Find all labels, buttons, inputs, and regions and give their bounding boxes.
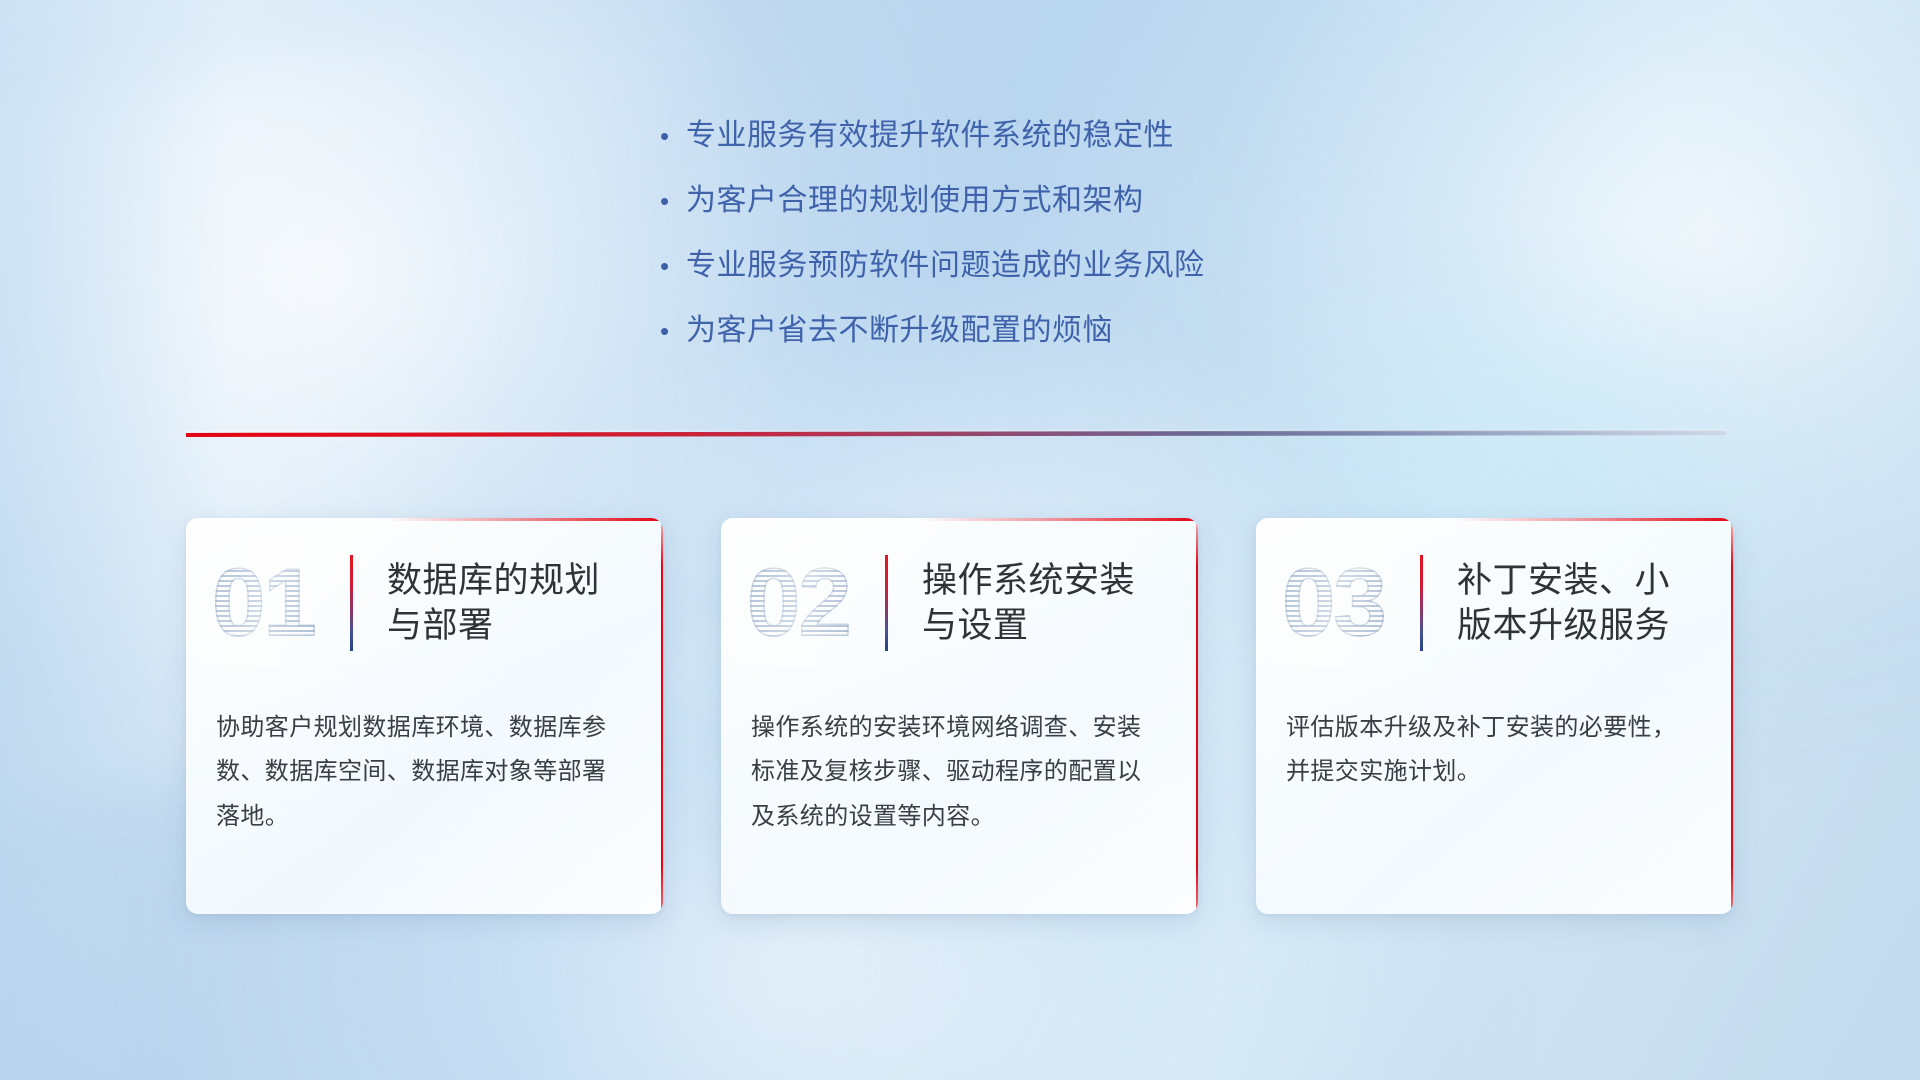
service-card-01[interactable]: 01 数据库的规划与部署 协助客户规划数据库环境、数据库参数、数据库空间、数据库… — [186, 518, 663, 914]
card-header: 02 操作系统安装与设置 — [721, 518, 1198, 688]
card-description: 操作系统的安装环境网络调查、安装标准及复核步骤、驱动程序的配置以及系统的设置等内… — [721, 688, 1198, 839]
bullet-dot-icon: • — [660, 318, 686, 344]
bullet-dot-icon: • — [660, 253, 686, 279]
section-divider — [186, 424, 1726, 446]
card-description: 评估版本升级及补丁安装的必要性，并提交实施计划。 — [1256, 688, 1733, 795]
card-title: 补丁安装、小版本升级服务 — [1457, 558, 1703, 649]
card-number-watermark: 03 — [1282, 544, 1414, 662]
bullet-dot-icon: • — [660, 123, 686, 149]
bullet-item-text: 专业服务预防软件问题造成的业务风险 — [686, 240, 1205, 284]
card-title-separator — [350, 555, 353, 651]
card-header: 01 数据库的规划与部署 — [186, 518, 663, 688]
bullet-item: • 为客户合理的规划使用方式和架构 — [660, 175, 1440, 240]
card-title-separator — [885, 555, 888, 651]
card-title: 操作系统安装与设置 — [922, 558, 1168, 649]
service-card-03[interactable]: 03 补丁安装、小版本升级服务 评估版本升级及补丁安装的必要性，并提交实施计划。 — [1256, 518, 1733, 914]
bullet-dot-icon: • — [660, 188, 686, 214]
bullet-item: • 为客户省去不断升级配置的烦恼 — [660, 305, 1440, 370]
slide-root: • 专业服务有效提升软件系统的稳定性 • 为客户合理的规划使用方式和架构 • 专… — [0, 0, 1920, 1080]
card-title-separator — [1420, 555, 1423, 651]
bullet-item-text: 专业服务有效提升软件系统的稳定性 — [686, 110, 1174, 154]
card-number-watermark: 01 — [212, 544, 344, 662]
card-title: 数据库的规划与部署 — [387, 558, 633, 649]
bullet-item: • 专业服务有效提升软件系统的稳定性 — [660, 110, 1440, 175]
service-card-02[interactable]: 02 操作系统安装与设置 操作系统的安装环境网络调查、安装标准及复核步骤、驱动程… — [721, 518, 1198, 914]
bullet-item-text: 为客户合理的规划使用方式和架构 — [686, 175, 1144, 219]
benefits-bullet-list: • 专业服务有效提升软件系统的稳定性 • 为客户合理的规划使用方式和架构 • 专… — [660, 110, 1440, 370]
bullet-item: • 专业服务预防软件问题造成的业务风险 — [660, 240, 1440, 305]
card-description: 协助客户规划数据库环境、数据库参数、数据库空间、数据库对象等部署落地。 — [186, 688, 663, 839]
bullet-item-text: 为客户省去不断升级配置的烦恼 — [686, 305, 1113, 349]
card-number-watermark: 02 — [747, 544, 879, 662]
service-card-list: 01 数据库的规划与部署 协助客户规划数据库环境、数据库参数、数据库空间、数据库… — [186, 518, 1734, 914]
card-header: 03 补丁安装、小版本升级服务 — [1256, 518, 1733, 688]
